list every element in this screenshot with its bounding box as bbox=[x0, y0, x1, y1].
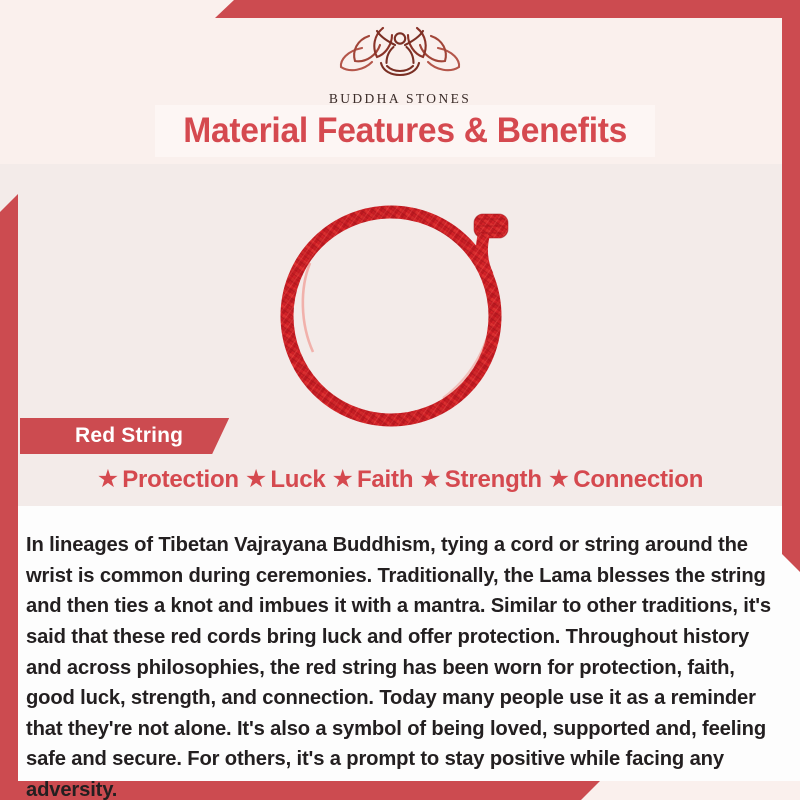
benefit-item-connection: ★ Connection bbox=[548, 466, 703, 494]
star-icon: ★ bbox=[245, 467, 267, 492]
brand-logo: BUDDHA STONES bbox=[0, 18, 800, 107]
star-icon: ★ bbox=[97, 467, 119, 492]
page-title-text: Material Features & Benefits bbox=[183, 111, 627, 151]
lotus-meditation-figure-icon bbox=[0, 18, 800, 89]
benefit-label: Luck bbox=[270, 466, 325, 494]
benefit-label: Strength bbox=[445, 466, 542, 494]
benefit-label: Faith bbox=[357, 466, 413, 494]
benefit-item-strength: ★ Strength bbox=[419, 466, 541, 494]
infographic-canvas: BUDDHA STONES Material Features & Benefi… bbox=[0, 0, 800, 800]
benefit-item-faith: ★ Faith bbox=[332, 466, 414, 494]
product-image-red-string-bracelet bbox=[258, 168, 558, 438]
decorative-bar-top bbox=[215, 0, 800, 18]
benefit-label: Protection bbox=[122, 466, 239, 494]
star-icon: ★ bbox=[419, 467, 441, 492]
material-label-banner: Red String bbox=[20, 418, 229, 454]
page-title: Material Features & Benefits bbox=[155, 105, 655, 157]
star-icon: ★ bbox=[548, 467, 570, 492]
benefits-list: ★ Protection ★ Luck ★ Faith ★ Strength ★… bbox=[0, 466, 800, 494]
benefit-label: Connection bbox=[573, 466, 703, 494]
decorative-bar-left bbox=[0, 194, 18, 800]
material-label-text: Red String bbox=[75, 424, 183, 448]
star-icon: ★ bbox=[332, 467, 354, 492]
description-paragraph: In lineages of Tibetan Vajrayana Buddhis… bbox=[26, 530, 774, 800]
benefit-item-protection: ★ Protection bbox=[97, 466, 239, 494]
benefit-item-luck: ★ Luck bbox=[245, 466, 326, 494]
